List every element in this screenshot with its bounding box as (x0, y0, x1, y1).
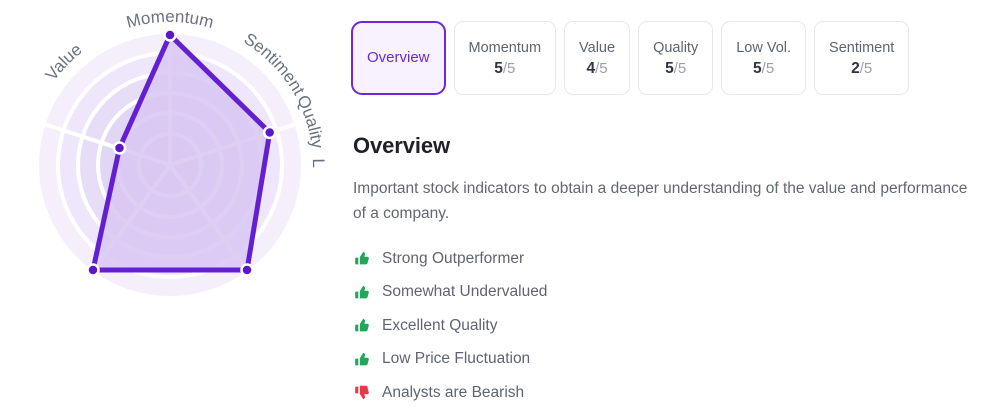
list-item: Strong Outperformer (353, 242, 773, 276)
stock-indicators-panel: Momentum Value Quality Low Volatility Se… (0, 0, 999, 418)
tab-label: Value (579, 38, 615, 58)
tab-momentum[interactable]: Momentum5/5 (454, 21, 557, 95)
page-title: Overview (353, 133, 450, 159)
tab-label: Momentum (469, 38, 542, 58)
tab-score-value: 2 (851, 60, 860, 77)
tab-label: Sentiment (829, 38, 894, 58)
indicator-list: Strong OutperformerSomewhat UndervaluedE… (353, 242, 773, 410)
tab-lowvol[interactable]: Low Vol.5/5 (721, 21, 806, 95)
tab-score-value: 5 (753, 60, 762, 77)
thumbs-down-icon (353, 384, 370, 401)
indicator-label: Analysts are Bearish (382, 383, 524, 403)
tab-score: 5/5 (753, 59, 774, 79)
list-item: Low Price Fluctuation (353, 343, 773, 377)
section-description: Important stock indicators to obtain a d… (353, 176, 983, 226)
tab-score: 4/5 (586, 59, 607, 79)
axis-label-momentum: Momentum (124, 7, 215, 32)
indicator-label: Strong Outperformer (382, 249, 524, 269)
indicator-label: Low Price Fluctuation (382, 349, 530, 369)
indicator-tab-bar: OverviewMomentum5/5Value4/5Quality5/5Low… (351, 21, 909, 95)
tab-label: Low Vol. (736, 38, 791, 58)
tab-overview[interactable]: Overview (351, 21, 446, 95)
tab-label: Quality (653, 38, 698, 58)
thumbs-up-icon (353, 351, 370, 368)
tab-value[interactable]: Value4/5 (564, 21, 630, 95)
tab-score: 5/5 (665, 59, 686, 79)
radar-chart: Momentum Value Quality Low Volatility Se… (0, 0, 340, 418)
list-item: Analysts are Bearish (353, 376, 773, 410)
tab-score-value: 4 (586, 60, 595, 77)
indicator-label: Excellent Quality (382, 316, 497, 336)
tab-sentiment[interactable]: Sentiment2/5 (814, 21, 909, 95)
tab-score-max: /5 (674, 60, 687, 77)
tab-label: Overview (367, 48, 430, 68)
tab-score-max: /5 (762, 60, 775, 77)
tab-score-value: 5 (665, 60, 674, 77)
indicator-label: Somewhat Undervalued (382, 282, 547, 302)
tab-score: 2/5 (851, 59, 872, 79)
tab-score-max: /5 (595, 60, 608, 77)
thumbs-up-icon (353, 317, 370, 334)
details-panel: OverviewMomentum5/5Value4/5Quality5/5Low… (351, 0, 999, 418)
radar-chart-panel: Momentum Value Quality Low Volatility Se… (0, 0, 340, 418)
tab-score-value: 5 (494, 60, 503, 77)
thumbs-up-icon (353, 250, 370, 267)
tab-quality[interactable]: Quality5/5 (638, 21, 713, 95)
thumbs-up-icon (353, 284, 370, 301)
list-item: Somewhat Undervalued (353, 276, 773, 310)
tab-score: 5/5 (494, 59, 515, 79)
list-item: Excellent Quality (353, 309, 773, 343)
tab-score-max: /5 (503, 60, 516, 77)
tab-score-max: /5 (860, 60, 873, 77)
